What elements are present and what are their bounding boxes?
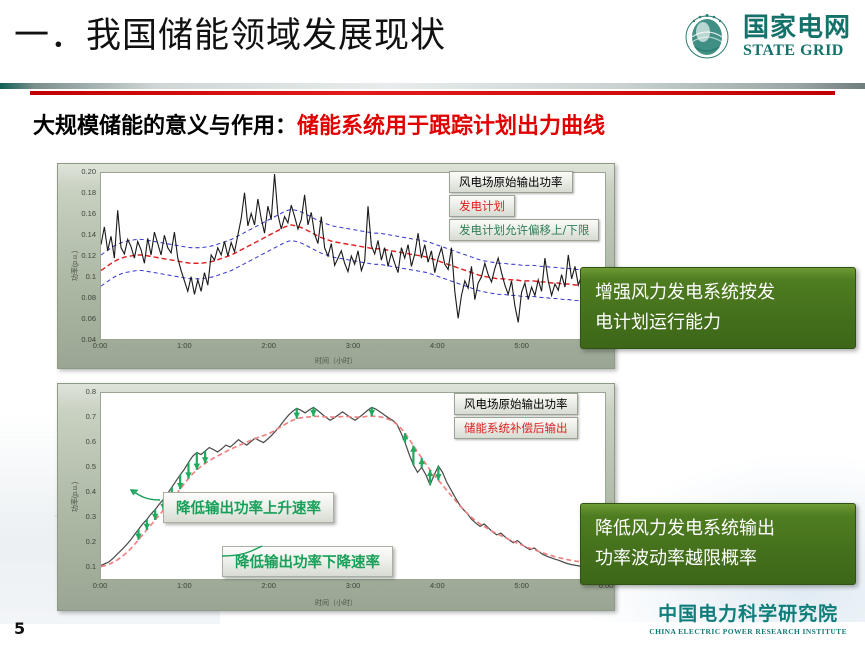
axis-tick-label: 0.1 — [66, 562, 96, 571]
callout-line-1: 增强风力发电系统按发 — [595, 278, 841, 308]
callout-benefit-fluctuation: 降低风力发电系统输出 功率波动率越限概率 — [580, 503, 856, 585]
axis-tick-label: 0.14 — [66, 230, 96, 239]
axis-tick-label: 0.20 — [66, 167, 96, 176]
callout-benefit-plan-following: 增强风力发电系统按发 电计划运行能力 — [580, 267, 856, 349]
state-grid-globe-icon — [681, 11, 733, 63]
callout-line-1: 降低风力发电系统输出 — [595, 514, 841, 544]
axis-tick-label: 5:00 — [511, 341, 533, 350]
legend-label-plan: 发电计划 — [449, 195, 515, 217]
chart1-legend: 风电场原始输出功率 发电计划 发电计划允许偏移上/下限 — [403, 170, 599, 242]
header-divider-red — [30, 91, 835, 95]
axis-tick-label: 0:00 — [89, 581, 111, 590]
legend-item: 风电场原始输出功率 — [403, 170, 599, 194]
axis-tick-label: 4:00 — [426, 581, 448, 590]
legend-label-raw-wind: 风电场原始输出功率 — [454, 393, 578, 415]
page-number: 5 — [14, 619, 25, 638]
axis-tick-label: 0:00 — [89, 341, 111, 350]
axis-tick-label: 0.6 — [66, 437, 96, 446]
cepri-logo: 中国电力科学研究院 CHINA ELECTRIC POWER RESEARCH … — [649, 599, 847, 636]
slide-header: 一．我国储能领域发展现状 国家电网 STATE GRID — [0, 0, 865, 88]
axis-tick-label: 0.06 — [66, 314, 96, 323]
header-divider-gray — [0, 83, 865, 89]
chart-panel-plan-tracking: 功率(p.u.) 0.040.060.080.10.120.140.160.18… — [57, 163, 615, 369]
subtitle-value: 储能系统用于跟踪计划出力曲线 — [297, 114, 605, 139]
state-grid-logo-cn: 国家电网 — [743, 15, 851, 41]
legend-item: 风电场原始输出功率 — [408, 392, 578, 416]
cepri-name-cn: 中国电力科学研究院 — [649, 599, 847, 626]
legend-item: 发电计划 — [403, 194, 599, 218]
state-grid-logo-en: STATE GRID — [743, 43, 851, 59]
axis-tick-label: 0.08 — [66, 293, 96, 302]
axis-tick-label: 0.1 — [66, 272, 96, 281]
cepri-name-en: CHINA ELECTRIC POWER RESEARCH INSTITUTE — [649, 627, 847, 636]
axis-tick-label: 5:00 — [511, 581, 533, 590]
section-subtitle: 大规模储能的意义与作用：储能系统用于跟踪计划出力曲线 — [33, 108, 605, 140]
annotation-reduce-ramp-up: 降低输出功率上升速率 — [163, 492, 334, 523]
axis-tick-label: 2:00 — [258, 341, 280, 350]
legend-label-compensated: 储能系统补偿后输出 — [454, 417, 578, 439]
axis-tick-label: 0.2 — [66, 537, 96, 546]
axis-tick-label: 1:00 — [173, 581, 195, 590]
annotation-reduce-ramp-down: 降低输出功率下降速率 — [222, 546, 393, 577]
chart2-legend: 风电场原始输出功率 储能系统补偿后输出 — [408, 392, 578, 440]
axis-tick-label: 3:00 — [342, 581, 364, 590]
axis-tick-label: 0.8 — [66, 387, 96, 396]
axis-tick-label: 0.5 — [66, 462, 96, 471]
axis-tick-label: 3:00 — [342, 341, 364, 350]
axis-tick-label: 1:00 — [173, 341, 195, 350]
callout-line-2: 电计划运行能力 — [595, 308, 841, 338]
callout-line-2: 功率波动率越限概率 — [595, 544, 841, 574]
page-title: 一．我国储能领域发展现状 — [14, 12, 446, 60]
chart1-x-axis-label: 时间（小时） — [58, 356, 614, 366]
axis-tick-label: 0.4 — [66, 487, 96, 496]
axis-tick-label: 0.7 — [66, 412, 96, 421]
axis-tick-label: 0.18 — [66, 188, 96, 197]
legend-item: 储能系统补偿后输出 — [408, 416, 578, 440]
legend-label-plan-bounds: 发电计划允许偏移上/下限 — [449, 219, 599, 241]
axis-tick-label: 4:00 — [426, 341, 448, 350]
axis-tick-label: 0.16 — [66, 209, 96, 218]
axis-tick-label: 0.3 — [66, 512, 96, 521]
chart2-x-axis-label: 时间（小时） — [58, 598, 614, 608]
state-grid-logo: 国家电网 STATE GRID — [681, 8, 851, 66]
legend-item: 发电计划允许偏移上/下限 — [403, 218, 599, 242]
subtitle-key: 大规模储能的意义与作用： — [33, 114, 297, 139]
axis-tick-label: 0.12 — [66, 251, 96, 260]
legend-label-raw-wind: 风电场原始输出功率 — [449, 171, 573, 193]
axis-tick-label: 2:00 — [258, 581, 280, 590]
